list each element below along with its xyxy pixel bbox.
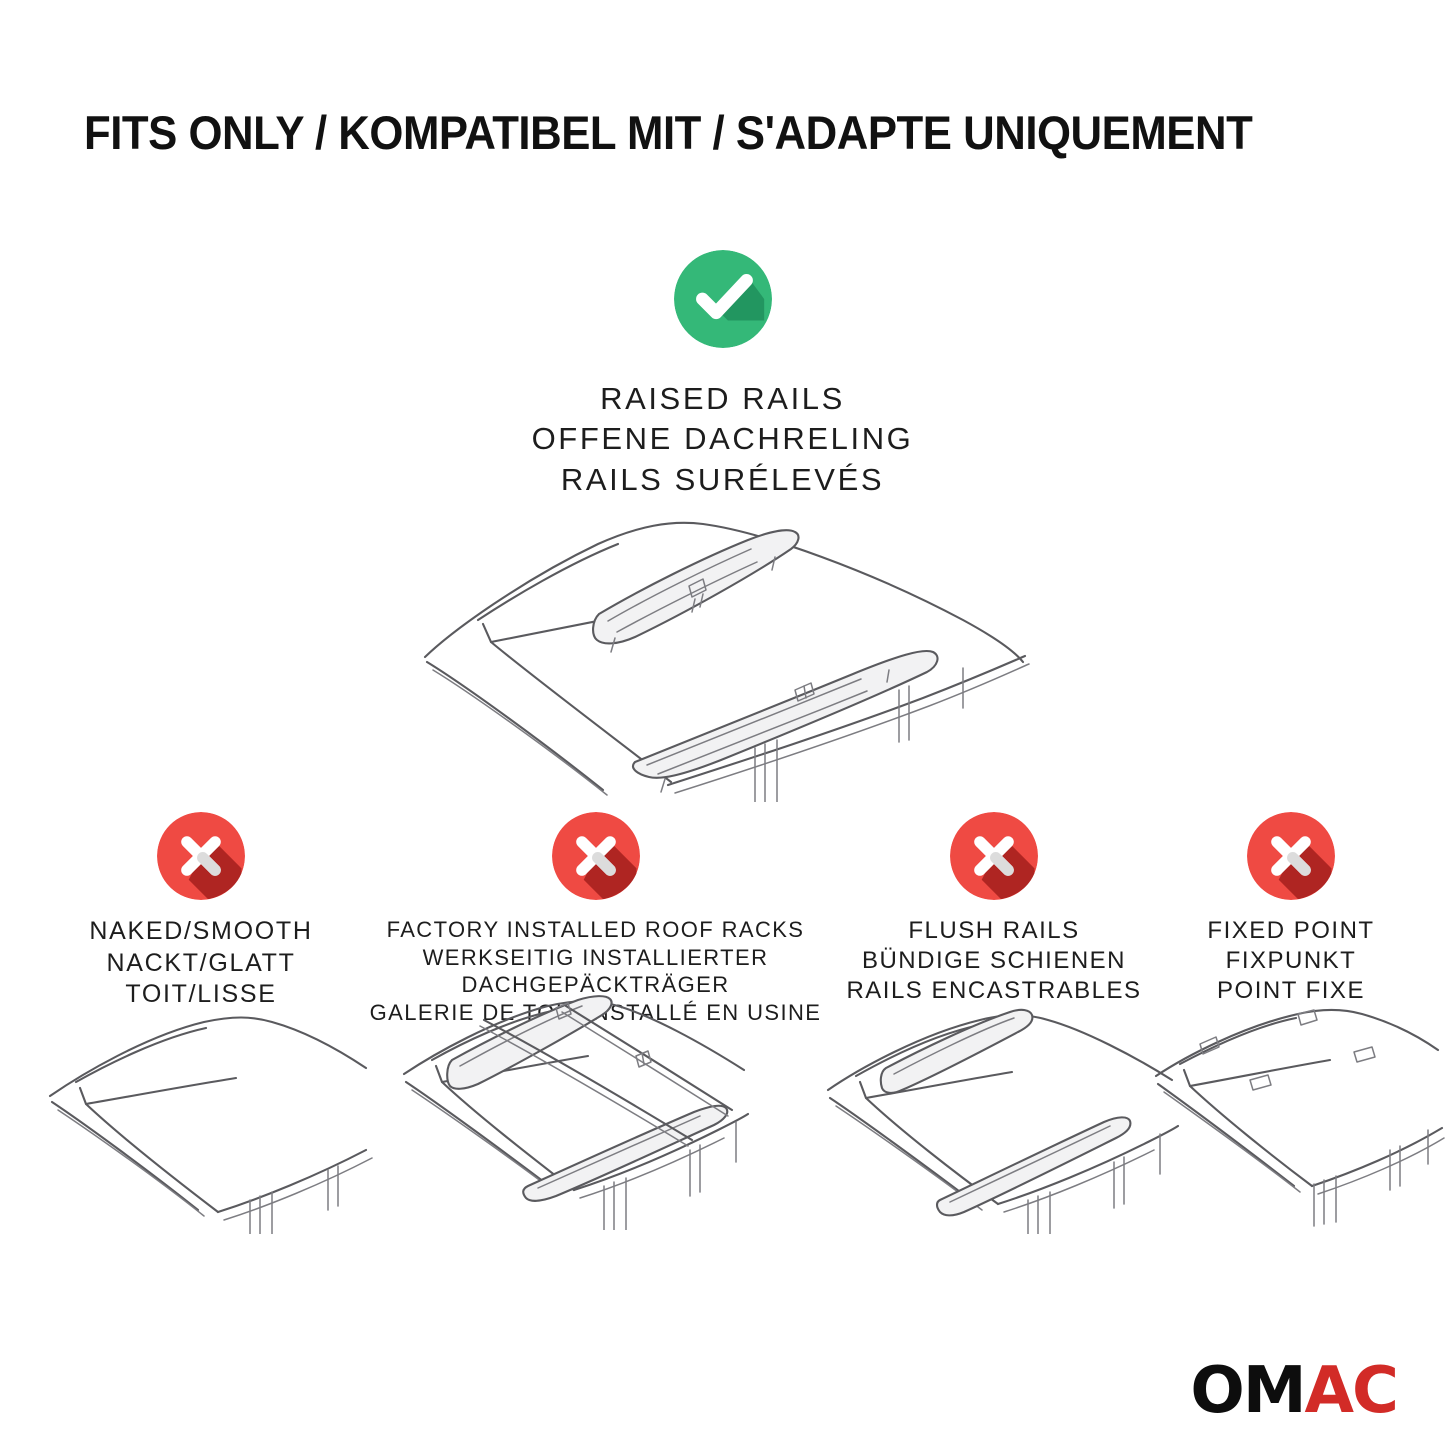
option-label-de-1: WERKSEITIG INSTALLIERTER (368, 944, 823, 972)
incompatible-option-flush-rails: FLUSH RAILS BÜNDIGE SCHIENEN RAILS ENCAS… (838, 812, 1150, 1007)
cross-circle-icon (950, 812, 1038, 900)
car-roof-with-raised-rails-illustration (403, 502, 1043, 802)
incompatible-option-factory-installed-roof-racks: FACTORY INSTALLED ROOF RACKS WERKSEITIG … (368, 812, 823, 1027)
car-roof-with-factory-crossbars-illustration (388, 990, 758, 1230)
page-title: FITS ONLY / KOMPATIBEL MIT / S'ADAPTE UN… (84, 108, 1284, 157)
incompatible-option-naked-smooth: NAKED/SMOOTH NACKT/GLATT TOIT/LISSE (36, 812, 366, 1011)
logo-text-red: AC (1305, 1354, 1398, 1428)
cross-circle-icon (552, 812, 640, 900)
option-label-fr: POINT FIXE (1156, 976, 1426, 1006)
car-roof-bare-illustration (36, 1004, 376, 1234)
option-labels: FIXED POINT FIXPUNKT POINT FIXE (1156, 916, 1426, 1007)
compatible-label-en: RAISED RAILS (0, 379, 1445, 419)
option-labels: FLUSH RAILS BÜNDIGE SCHIENEN RAILS ENCAS… (838, 916, 1150, 1007)
compatibility-infographic: FITS ONLY / KOMPATIBEL MIT / S'ADAPTE UN… (0, 0, 1445, 1445)
cross-circle-icon (157, 812, 245, 900)
option-label-en: FACTORY INSTALLED ROOF RACKS (368, 916, 823, 944)
compatible-label-fr: RAILS SURÉLEVÉS (0, 460, 1445, 500)
option-label-fr: RAILS ENCASTRABLES (838, 976, 1150, 1006)
incompatible-option-fixed-point: FIXED POINT FIXPUNKT POINT FIXE (1156, 812, 1426, 1007)
cross-circle-icon (1247, 812, 1335, 900)
compatible-label-de: OFFENE DACHRELING (0, 419, 1445, 459)
option-label-de: BÜNDIGE SCHIENEN (838, 946, 1150, 976)
car-roof-with-fixed-points-illustration (1146, 1004, 1445, 1234)
check-circle-icon (674, 250, 772, 348)
car-roof-with-flush-rails-illustration (808, 1004, 1183, 1234)
option-label-en: FLUSH RAILS (838, 916, 1150, 946)
compatible-labels: RAISED RAILS OFFENE DACHRELING RAILS SUR… (0, 379, 1445, 500)
option-label-de: FIXPUNKT (1156, 946, 1426, 976)
check-badge (674, 250, 772, 348)
logo-text-black: OM (1190, 1354, 1304, 1428)
option-label-de: NACKT/GLATT (36, 948, 366, 980)
option-labels: NAKED/SMOOTH NACKT/GLATT TOIT/LISSE (36, 916, 366, 1011)
compatible-section: RAISED RAILS OFFENE DACHRELING RAILS SUR… (0, 250, 1445, 500)
option-label-en: NAKED/SMOOTH (36, 916, 366, 948)
omac-logo: OMAC (1190, 1359, 1397, 1423)
option-label-en: FIXED POINT (1156, 916, 1426, 946)
